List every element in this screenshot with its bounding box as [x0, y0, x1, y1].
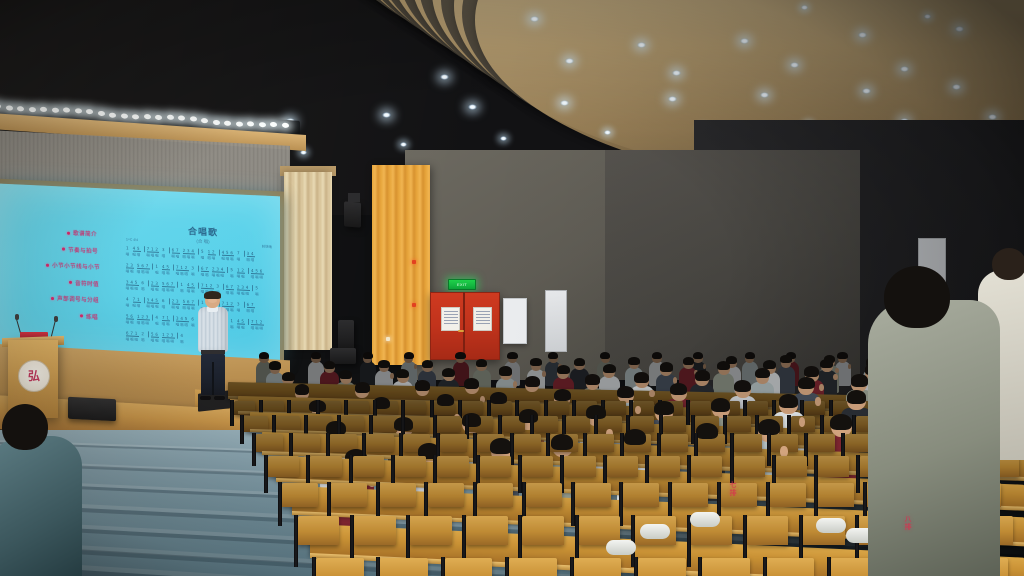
seat-back — [410, 516, 451, 545]
seat-back — [526, 483, 562, 507]
seat-back — [445, 558, 493, 576]
foreground-attendee-left-head — [2, 404, 48, 450]
seat-back — [380, 483, 416, 507]
audience-person-hair — [355, 382, 370, 393]
audience-person-hair — [624, 429, 646, 445]
audience-person-hair — [442, 368, 455, 377]
audience-person-hair — [295, 384, 310, 395]
audience-person-hair — [363, 352, 373, 359]
seat-back — [514, 434, 541, 452]
audience-person-hair — [455, 352, 465, 359]
seat-back — [691, 456, 722, 477]
seat-back — [366, 434, 393, 452]
audience-clapping-hand — [635, 406, 641, 414]
audience-person-hair — [339, 370, 352, 379]
audience-person-hair — [804, 366, 819, 377]
foreground-attendee-far-right-head — [992, 248, 1024, 280]
auditorium-photo: 合唱歌 (合 唱) 歌谱简介节奏与拍号小节小节线与小节音符时值声部调号与分组练唱… — [0, 0, 1024, 576]
audience-person-hair — [557, 365, 570, 374]
seat-back — [649, 456, 680, 477]
audience-person-hair — [259, 352, 269, 359]
seat-support-leg — [376, 557, 380, 576]
audience-person-hair — [603, 364, 616, 373]
row-marker-seven: 七排 — [728, 482, 738, 498]
seat-support-leg — [240, 415, 244, 444]
seat-back — [477, 483, 513, 507]
seat-back — [690, 401, 711, 415]
seat-back — [293, 434, 320, 452]
audience-person-hair — [548, 352, 558, 359]
seat-back — [638, 558, 686, 576]
audience-clapping-hand — [542, 371, 546, 377]
seat-back — [353, 456, 384, 477]
audience-person-hair — [830, 414, 852, 430]
foreground-attendee-right-head — [884, 266, 950, 328]
seat-support-leg — [698, 557, 702, 576]
audience-person-hair — [464, 378, 479, 389]
audience-clapping-hand — [414, 364, 417, 369]
audience-person-hair — [617, 386, 634, 398]
seat-back — [770, 483, 806, 507]
seat-back — [316, 558, 364, 576]
audience-person-hair — [755, 368, 770, 379]
audience-person-hair — [600, 352, 610, 359]
seat-support-leg — [441, 557, 445, 576]
seat-back — [331, 483, 367, 507]
seat-back — [437, 416, 461, 432]
audience-person-hair — [695, 370, 710, 381]
seat-support-leg — [264, 455, 268, 493]
seat-support-leg — [294, 515, 298, 567]
audience-person-hair — [683, 357, 695, 365]
seat-support-leg — [634, 557, 638, 576]
seat-back — [623, 483, 659, 507]
tiered-audience-seating — [0, 0, 1024, 576]
seat-back — [395, 456, 426, 477]
seat-back — [466, 516, 507, 545]
audience-person-hair — [282, 372, 295, 381]
audience-person-hair — [851, 374, 868, 386]
seat-back — [767, 558, 815, 576]
audience-person-hair — [490, 392, 507, 404]
row-marker-char: 排 — [728, 490, 738, 498]
audience-person-hair — [628, 357, 640, 365]
seat-support-leg — [686, 400, 690, 426]
seat-support-leg — [252, 433, 256, 466]
audience-person-hair — [269, 361, 281, 369]
seat-back — [440, 434, 467, 452]
audience-person-hair — [525, 376, 540, 387]
audience-person-hair — [696, 423, 718, 439]
foreground-attendee-left — [0, 436, 82, 576]
row-marker-char: 排 — [903, 524, 913, 532]
audience-shoe — [690, 512, 720, 527]
seat-support-leg — [505, 557, 509, 576]
seat-back — [310, 456, 341, 477]
foreground-attendee-right — [868, 300, 1000, 576]
audience-clapping-hand — [513, 381, 517, 387]
audience-shoe — [640, 524, 670, 539]
seat-back — [256, 434, 283, 452]
seat-support-leg — [856, 455, 860, 493]
audience-person-hair — [693, 352, 703, 359]
seat-back — [808, 434, 835, 452]
row-marker-char: 七 — [728, 482, 738, 490]
seat-back — [605, 401, 626, 415]
seat-back — [522, 516, 563, 545]
seat-back — [587, 434, 614, 452]
audience-person-hair — [404, 352, 414, 359]
audience-clapping-hand — [815, 397, 821, 405]
audience-person-hair — [530, 358, 542, 366]
seat-back — [721, 483, 757, 507]
seat-back — [437, 456, 468, 477]
seat-back — [607, 456, 638, 477]
seat-support-leg — [767, 433, 771, 466]
seat-back — [405, 401, 426, 415]
audience-shoe — [606, 540, 636, 555]
seat-support-leg — [278, 482, 282, 526]
seat-back — [818, 456, 849, 477]
seat-back — [282, 483, 318, 507]
audience-person-hair — [734, 380, 751, 392]
audience-person-hair — [820, 359, 833, 368]
seat-support-leg — [827, 557, 831, 576]
audience-shoe — [816, 518, 846, 533]
seat-back — [566, 416, 590, 432]
audience-person-hair — [519, 409, 538, 423]
audience-person-hair — [396, 369, 409, 378]
audience-person-hair — [476, 359, 488, 367]
seat-back — [747, 516, 788, 545]
seat-back — [564, 456, 595, 477]
audience-person-hair — [422, 360, 434, 368]
row-marker-char: 八 — [903, 516, 913, 524]
seat-support-leg — [570, 557, 574, 576]
audience-person-hair — [745, 352, 755, 359]
seat-back — [734, 434, 761, 452]
audience-person-hair — [652, 352, 662, 359]
audience-person-hair — [798, 377, 815, 389]
seat-back — [380, 558, 428, 576]
seat-support-leg — [763, 557, 767, 576]
seat-back — [727, 416, 751, 432]
audience-person-hair — [499, 366, 512, 375]
seat-back — [702, 558, 750, 576]
seat-back — [548, 401, 569, 415]
audience-person-hair — [437, 394, 454, 406]
seat-back — [734, 456, 765, 477]
audience-person-hair — [554, 389, 571, 401]
audience-clapping-hand — [390, 373, 394, 379]
audience-person-hair — [654, 401, 673, 415]
seat-back — [354, 516, 395, 545]
seat-back — [373, 416, 397, 432]
seat-support-leg — [230, 400, 234, 426]
audience-person-hair — [780, 355, 792, 363]
seat-back — [776, 456, 807, 477]
seat-support-leg — [312, 557, 316, 576]
seat-back — [522, 456, 553, 477]
seat-back — [480, 456, 511, 477]
seat-back — [268, 456, 299, 477]
row-marker-eight: 八排 — [903, 516, 913, 532]
audience-person-hair — [670, 383, 687, 395]
audience-person-hair — [837, 352, 847, 359]
seat-back — [672, 483, 708, 507]
audience-person-hair — [574, 358, 586, 366]
audience-person-hair — [585, 374, 600, 385]
seat-back — [574, 558, 622, 576]
seat-back — [428, 483, 464, 507]
audience-clapping-hand — [848, 364, 851, 369]
audience-person-hair — [711, 398, 730, 412]
audience-person-hair — [378, 360, 390, 368]
audience-person-hair — [415, 380, 430, 391]
audience-clapping-hand — [649, 390, 654, 397]
audience-person-hair — [847, 390, 866, 404]
seat-back — [509, 558, 557, 576]
audience-person-hair — [311, 352, 321, 359]
seat-back — [663, 416, 687, 432]
seat-back — [747, 401, 768, 415]
seat-back — [575, 483, 611, 507]
audience-person-hair — [717, 361, 730, 370]
audience-person-hair — [660, 362, 673, 371]
seat-back — [298, 516, 339, 545]
seat-back — [818, 483, 854, 507]
audience-clapping-hand — [833, 374, 837, 380]
audience-person-hair — [634, 372, 649, 383]
audience-person-hair — [324, 361, 336, 369]
audience-person-hair — [551, 434, 573, 450]
audience-person-hair — [779, 394, 798, 408]
audience-person-hair — [507, 352, 517, 359]
seat-back — [661, 434, 688, 452]
